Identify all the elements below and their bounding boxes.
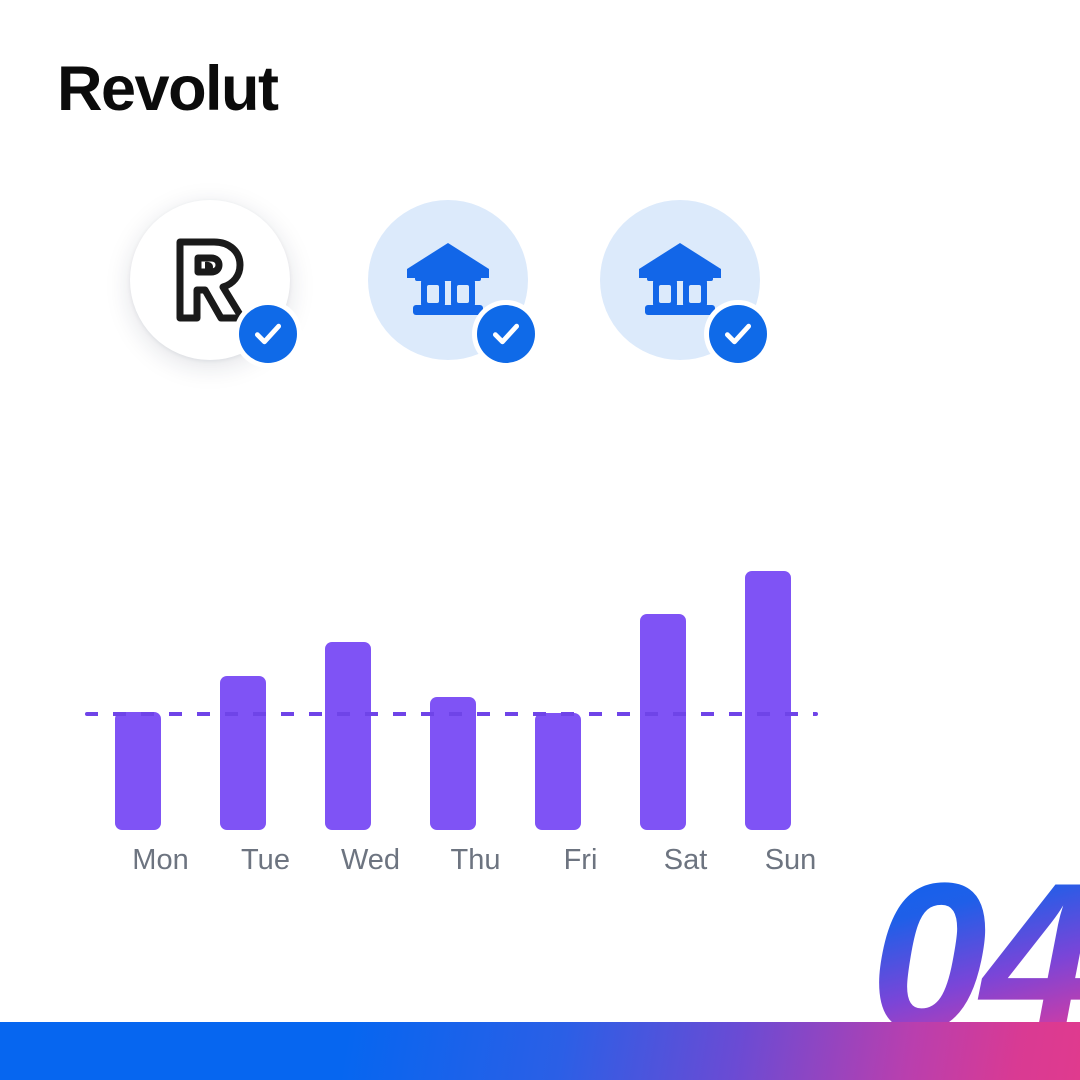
chart-bar[interactable] — [220, 676, 266, 830]
revolut-r-icon — [172, 236, 248, 324]
chart-x-axis-labels: MonTueWedThuFriSatSun — [85, 840, 820, 880]
verified-badge — [472, 300, 540, 368]
chart-bar[interactable] — [535, 713, 581, 830]
chart-x-label: Sun — [731, 840, 851, 880]
revolut-wordmark-logo: Revolut — [57, 58, 278, 121]
chart-x-label: Mon — [101, 840, 221, 880]
chart-reference-line — [85, 712, 818, 716]
account-chip-revolut[interactable] — [130, 200, 290, 360]
bank-icon — [637, 241, 723, 319]
verified-badge — [704, 300, 772, 368]
check-icon — [251, 317, 285, 351]
chart-bar[interactable] — [430, 697, 476, 830]
chart-x-label: Fri — [521, 840, 641, 880]
linked-accounts-row — [130, 200, 830, 400]
chart-plot-area — [85, 540, 820, 830]
chart-x-label: Tue — [206, 840, 326, 880]
verified-badge — [234, 300, 302, 368]
check-icon — [721, 317, 755, 351]
chart-x-label: Wed — [311, 840, 431, 880]
verified-badge-disc — [239, 305, 297, 363]
account-chip-bank-2[interactable] — [600, 200, 760, 360]
bank-icon — [405, 241, 491, 319]
chart-bar[interactable] — [325, 642, 371, 830]
verified-badge-disc — [709, 305, 767, 363]
chart-bar[interactable] — [745, 571, 791, 830]
chart-x-label: Sat — [626, 840, 746, 880]
footer-accent-bar — [0, 1022, 1080, 1080]
chart-bar[interactable] — [640, 614, 686, 830]
chart-x-label: Thu — [416, 840, 536, 880]
chart-bar[interactable] — [115, 712, 161, 830]
check-icon — [489, 317, 523, 351]
verified-badge-disc — [477, 305, 535, 363]
account-chip-bank-1[interactable] — [368, 200, 528, 360]
slide-canvas: Revolut — [0, 0, 1080, 1080]
